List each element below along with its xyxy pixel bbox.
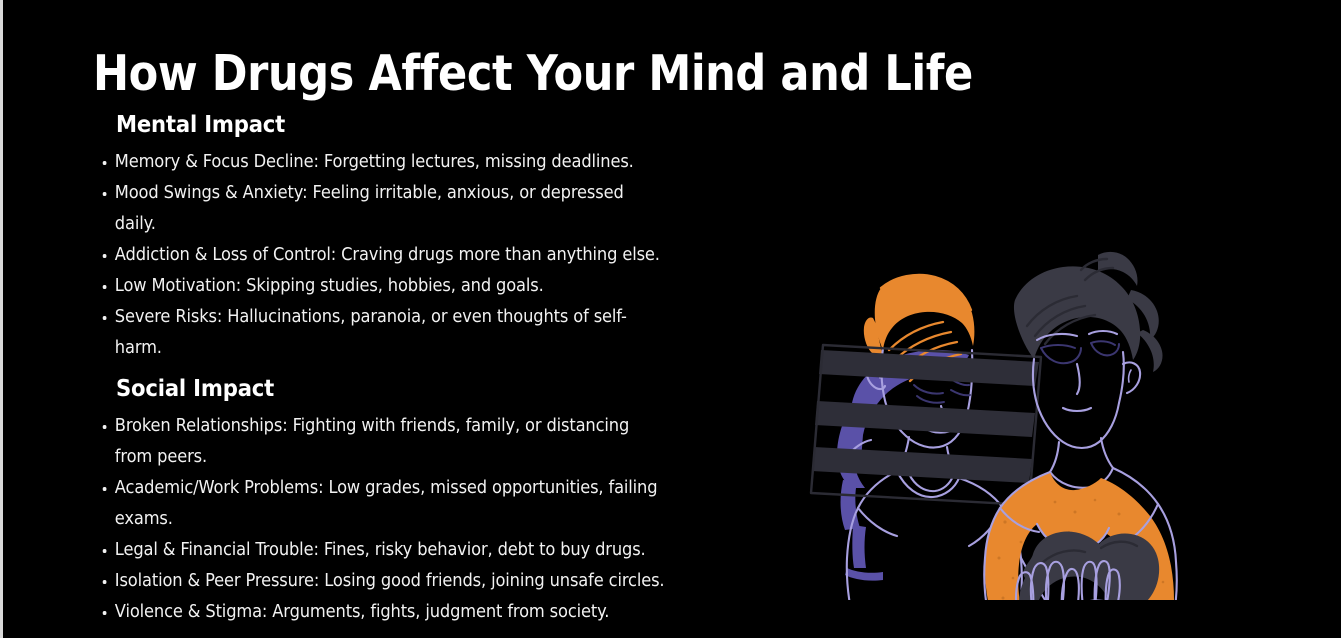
list-item: Broken Relationships: Fighting with frie…: [99, 411, 666, 473]
three-people-with-spilled-pills-illustration: .ln { fill:none; stroke:#a8a0e0; stroke-…: [703, 150, 1263, 600]
list-item: Severe Risks: Hallucinations, paranoia, …: [99, 302, 666, 364]
content-column: Mental Impact Memory & Focus Decline: Fo…: [99, 110, 709, 630]
list-item: Academic/Work Problems: Low grades, miss…: [99, 473, 666, 535]
illustration-svg: .ln { fill:none; stroke:#a8a0e0; stroke-…: [703, 150, 1263, 600]
list-item: Isolation & Peer Pressure: Losing good f…: [99, 566, 666, 597]
list-item: Mood Swings & Anxiety: Feeling irritable…: [99, 178, 666, 240]
list-item: Low Motivation: Skipping studies, hobbie…: [99, 271, 666, 302]
section-heading-mental-impact: Mental Impact: [116, 110, 662, 141]
section-heading-social-impact: Social Impact: [116, 374, 662, 405]
list-item: Addiction & Loss of Control: Craving dru…: [99, 240, 666, 271]
list-item: Legal & Financial Trouble: Fines, risky …: [99, 535, 666, 566]
page-title: How Drugs Affect Your Mind and Life: [93, 43, 973, 104]
list-item: Memory & Focus Decline: Forgetting lectu…: [99, 147, 666, 178]
slide-canvas: How Drugs Affect Your Mind and Life Ment…: [0, 0, 1341, 638]
bullet-list-social-impact: Broken Relationships: Fighting with frie…: [99, 411, 709, 628]
list-item: Violence & Stigma: Arguments, fights, ju…: [99, 597, 666, 628]
bullet-list-mental-impact: Memory & Focus Decline: Forgetting lectu…: [99, 147, 709, 364]
